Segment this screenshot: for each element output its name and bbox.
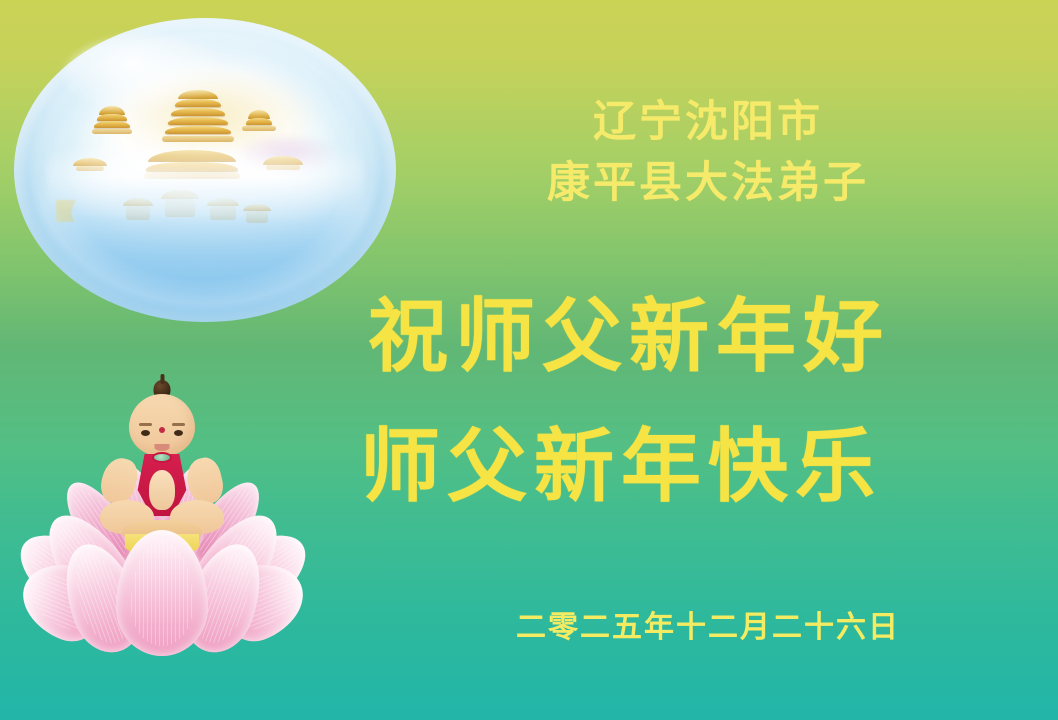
greeting-line-1: 祝师父新年好 — [368, 272, 1028, 402]
greeting-text: 祝师父新年好 师父新年快乐 — [368, 272, 1028, 531]
header-text: 辽宁沈阳市 康平县大法弟子 — [408, 92, 1008, 214]
celestial-sphere — [14, 18, 396, 322]
lotus-with-child — [28, 372, 296, 660]
eye-right — [174, 430, 183, 436]
eyebrow-right — [172, 423, 185, 426]
meditating-child — [98, 378, 226, 548]
topknot-tip — [160, 374, 164, 384]
mouth — [155, 444, 170, 451]
eye-left — [141, 430, 150, 436]
header-line-2: 康平县大法弟子 — [408, 153, 1008, 214]
greeting-line-2: 师父新年快乐 — [360, 402, 1028, 532]
greeting-card: 辽宁沈阳市 康平县大法弟子 祝师父新年好 师父新年快乐 二零二五年十二月二十六日 — [0, 0, 1058, 720]
date-text: 二零二五年十二月二十六日 — [408, 602, 1008, 646]
pressed-palms — [149, 470, 175, 510]
header-line-1: 辽宁沈阳市 — [408, 92, 1008, 153]
jade-collar-bead — [152, 452, 172, 463]
eyebrow-left — [139, 423, 152, 426]
child-head — [129, 394, 195, 456]
arm-left — [97, 455, 141, 508]
forehead-dot — [159, 427, 165, 433]
sphere-rim-light — [14, 18, 396, 322]
